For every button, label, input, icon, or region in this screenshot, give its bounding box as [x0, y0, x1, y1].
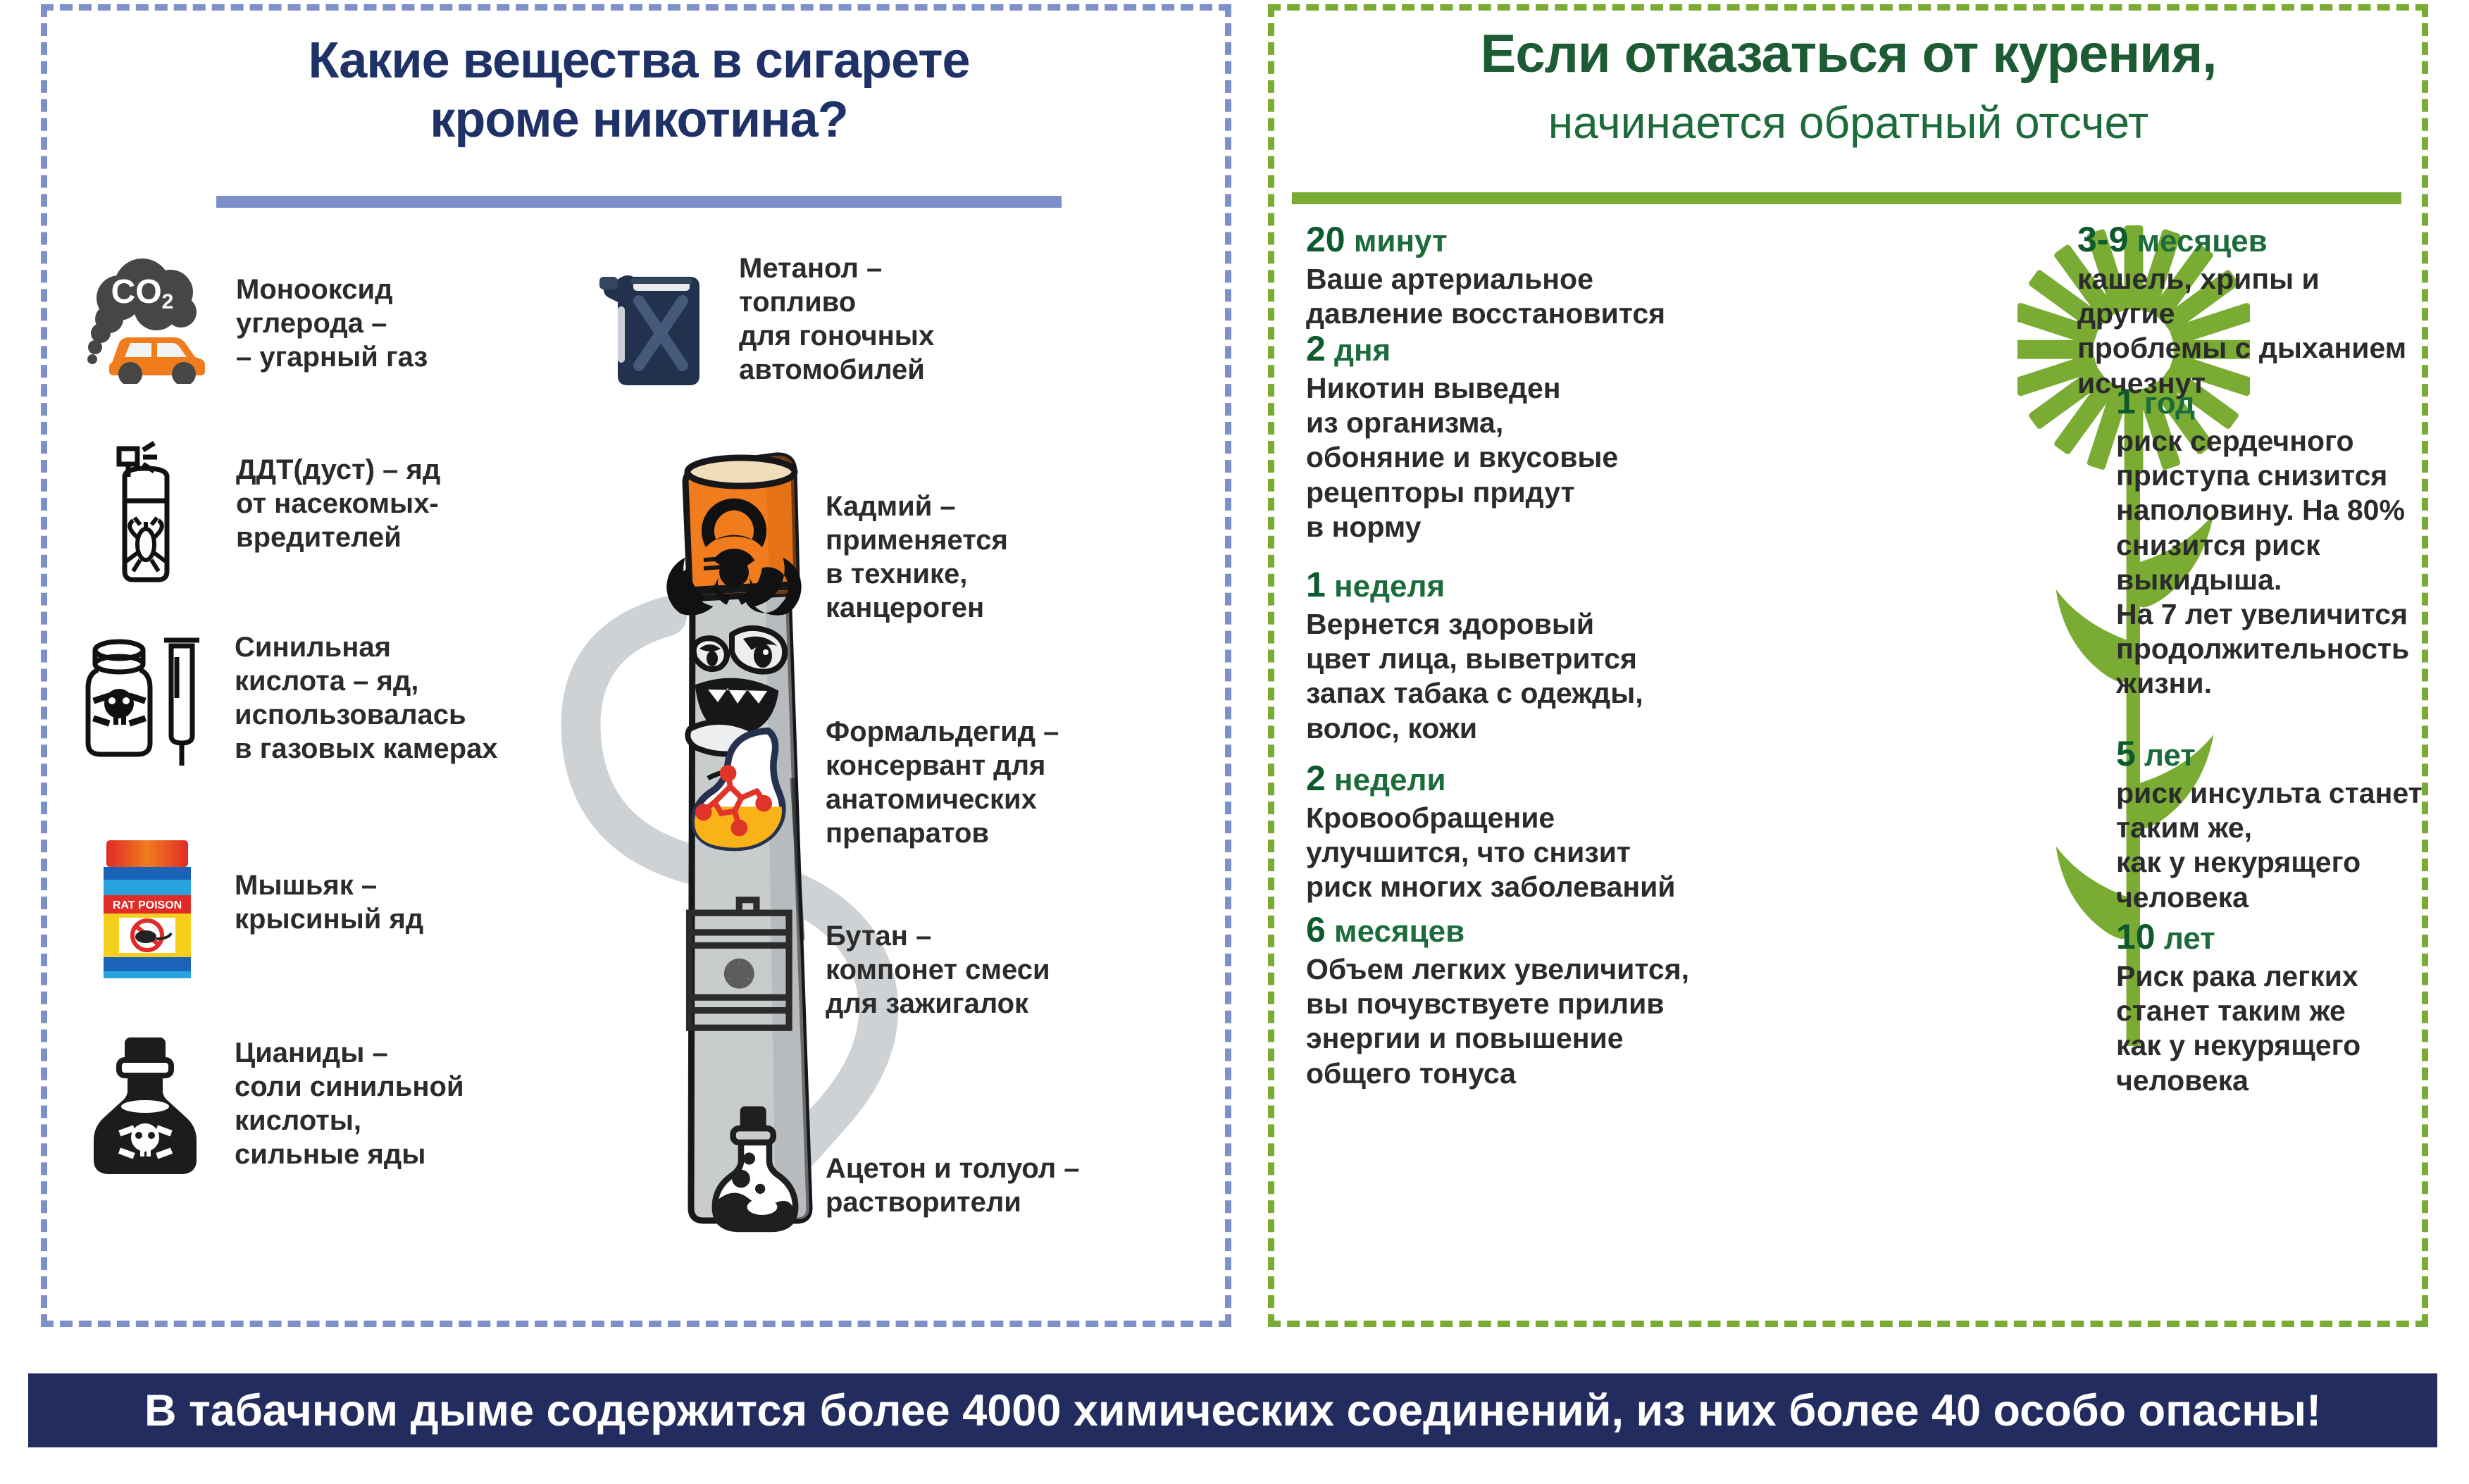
right-panel-title-line-2: начинается обратный отсчет: [1288, 99, 2408, 146]
timeline-unit: год: [2144, 386, 2195, 420]
poison-jar-syringe-icon: [75, 630, 216, 771]
list-item-label: Метанол – топливо для гоночных автомобил…: [739, 251, 934, 387]
timeline-item: 6 месяцев Объем легких увеличится, вы по…: [1306, 912, 1690, 1091]
list-item: Формальдегид – консервант для анатомичес…: [826, 715, 1234, 850]
left-title-underline: [216, 196, 1062, 208]
rat-poison-label: RAT POISON: [113, 899, 182, 911]
timeline-item: 2 дня Никотин выведен из организма, обон…: [1306, 331, 1672, 544]
bottom-banner: В табачном дыме содержится более 4000 хи…: [28, 1373, 2437, 1447]
timeline-item: 1 неделя Вернется здоровый цвет лица, вы…: [1306, 567, 1686, 746]
timeline-item: 1 год риск сердечного приступа снизится …: [2116, 384, 2419, 702]
timeline-period: 5 лет: [2116, 736, 2433, 771]
list-item: ДДТ(дуст) – яд от насекомых- вредителей: [75, 433, 526, 588]
biohazard-icon: [660, 490, 808, 637]
jerrycan-icon: [590, 257, 716, 398]
right-title-underline: [1292, 192, 2401, 204]
list-item-label: Цианиды – соли синильной кислоты, сильны…: [235, 1036, 464, 1171]
list-item: Цианиды – соли синильной кислоты, сильны…: [75, 1032, 540, 1180]
radioactive-barrel-icon: [674, 887, 815, 1042]
timeline-period: 1 год: [2116, 384, 2419, 419]
bottom-banner-text: В табачном дыме содержится более 4000 хи…: [144, 1385, 2321, 1436]
timeline-unit: дня: [1334, 333, 1391, 368]
right-panel: Если отказаться от курения, начинается о…: [1268, 4, 2428, 1327]
timeline-text: Никотин выведен из организма, обоняние и…: [1306, 371, 1672, 544]
timeline-number: 3-9: [2077, 220, 2128, 259]
poison-bottle-icon: [75, 1032, 216, 1180]
list-item: Бутан – компонет смеси для зажигалок: [826, 919, 1234, 1021]
list-item-label: Синильная кислота – яд, использовалась в…: [235, 630, 498, 766]
timeline-item: 10 лет Риск рака легких станет таким же …: [2116, 919, 2433, 1098]
timeline-unit: лет: [2144, 738, 2196, 773]
timeline-period: 2 недели: [1306, 761, 1690, 796]
timeline-period: 1 неделя: [1306, 567, 1686, 602]
timeline-unit: лет: [2164, 921, 2215, 956]
list-item-label: Ацетон и толуол – растворители: [826, 1152, 1080, 1219]
timeline-unit: минут: [1354, 224, 1448, 258]
timeline-number: 2: [1306, 759, 1326, 798]
timeline-text: Риск рака легких станет таким же как у н…: [2116, 959, 2433, 1098]
timeline-number: 20: [1306, 220, 1345, 259]
timeline-number: 1: [1306, 565, 1326, 604]
timeline-text: Ваше артериальное давление восстановится: [1306, 262, 1672, 331]
timeline-period: 20 минут: [1306, 222, 1672, 257]
left-panel-title: Какие вещества в сигарете кроме никотина…: [75, 32, 1202, 149]
list-item: Ацетон и толуол – растворители: [826, 1152, 1248, 1219]
list-item-label: Монооксид углерода – – угарный газ: [236, 273, 428, 374]
chemical-flask-icon: [702, 1102, 808, 1243]
timeline-text: риск сердечного приступа снизится наполо…: [2116, 424, 2419, 702]
list-item: Синильная кислота – яд, использовалась в…: [75, 630, 540, 771]
left-panel: Какие вещества в сигарете кроме никотина…: [41, 4, 1231, 1327]
timeline-item: 5 лет риск инсульта станет таким же, как…: [2116, 736, 2433, 915]
list-item-label: Бутан – компонет смеси для зажигалок: [826, 919, 1050, 1021]
pesticide-spray-icon: [75, 433, 216, 588]
timeline-text: Вернется здоровый цвет лица, выветрится …: [1306, 607, 1686, 746]
timeline-period: 3-9 месяцев: [2077, 222, 2408, 257]
timeline-item: 3-9 месяцев кашель, хрипы и другие пробл…: [2077, 222, 2408, 401]
rat-poison-icon: RAT POISON: [75, 828, 216, 983]
timeline-number: 5: [2116, 734, 2136, 773]
list-item: CO2 Монооксид углерода – – угарный газ: [75, 257, 526, 384]
timeline-unit: недели: [1334, 763, 1445, 797]
list-item: Кадмий – применяется в технике, канцерог…: [826, 490, 1220, 625]
timeline-text: Кровообращение улучшится, что снизит рис…: [1306, 801, 1690, 905]
timeline-text: риск инсульта станет таким же, как у нек…: [2116, 776, 2433, 915]
timeline-number: 1: [2116, 382, 2136, 421]
timeline-period: 6 месяцев: [1306, 912, 1690, 947]
list-item-label: Мышьяк – крысиный яд: [235, 868, 423, 936]
timeline-item: 2 недели Кровообращение улучшится, что с…: [1306, 761, 1690, 905]
list-item: Метанол – топливо для гоночных автомобил…: [590, 257, 1083, 398]
timeline-unit: месяцев: [1334, 914, 1464, 949]
timeline-item: 20 минут Ваше артериальное давление восс…: [1306, 222, 1672, 331]
timeline-number: 10: [2116, 917, 2156, 956]
timeline-number: 2: [1306, 329, 1326, 368]
list-item-label: ДДТ(дуст) – яд от насекомых- вредителей: [236, 453, 440, 554]
left-title-line-1: Какие вещества в сигарете: [75, 32, 1202, 91]
list-item: RAT POISON Мышьяк – крысиный яд: [75, 828, 540, 983]
timeline-number: 6: [1306, 910, 1326, 949]
left-title-line-2: кроме никотина?: [75, 91, 1202, 150]
timeline-period: 2 дня: [1306, 331, 1672, 366]
timeline-unit: месяцев: [2137, 224, 2268, 258]
flask-molecule-icon: [681, 722, 815, 856]
timeline-text: Объем легких увеличится, вы почувствуете…: [1306, 952, 1690, 1091]
timeline-period: 10 лет: [2116, 919, 2433, 954]
list-item-label: Кадмий – применяется в технике, канцерог…: [826, 490, 1008, 625]
infographic-page: Какие вещества в сигарете кроме никотина…: [0, 0, 2469, 1484]
timeline-text: кашель, хрипы и другие проблемы с дыхани…: [2077, 262, 2408, 401]
timeline-unit: неделя: [1334, 569, 1445, 604]
co2-car-icon: CO2: [75, 257, 216, 384]
list-item-label: Формальдегид – консервант для анатомичес…: [826, 715, 1059, 850]
right-panel-title-line-1: Если отказаться от курения,: [1288, 26, 2408, 82]
